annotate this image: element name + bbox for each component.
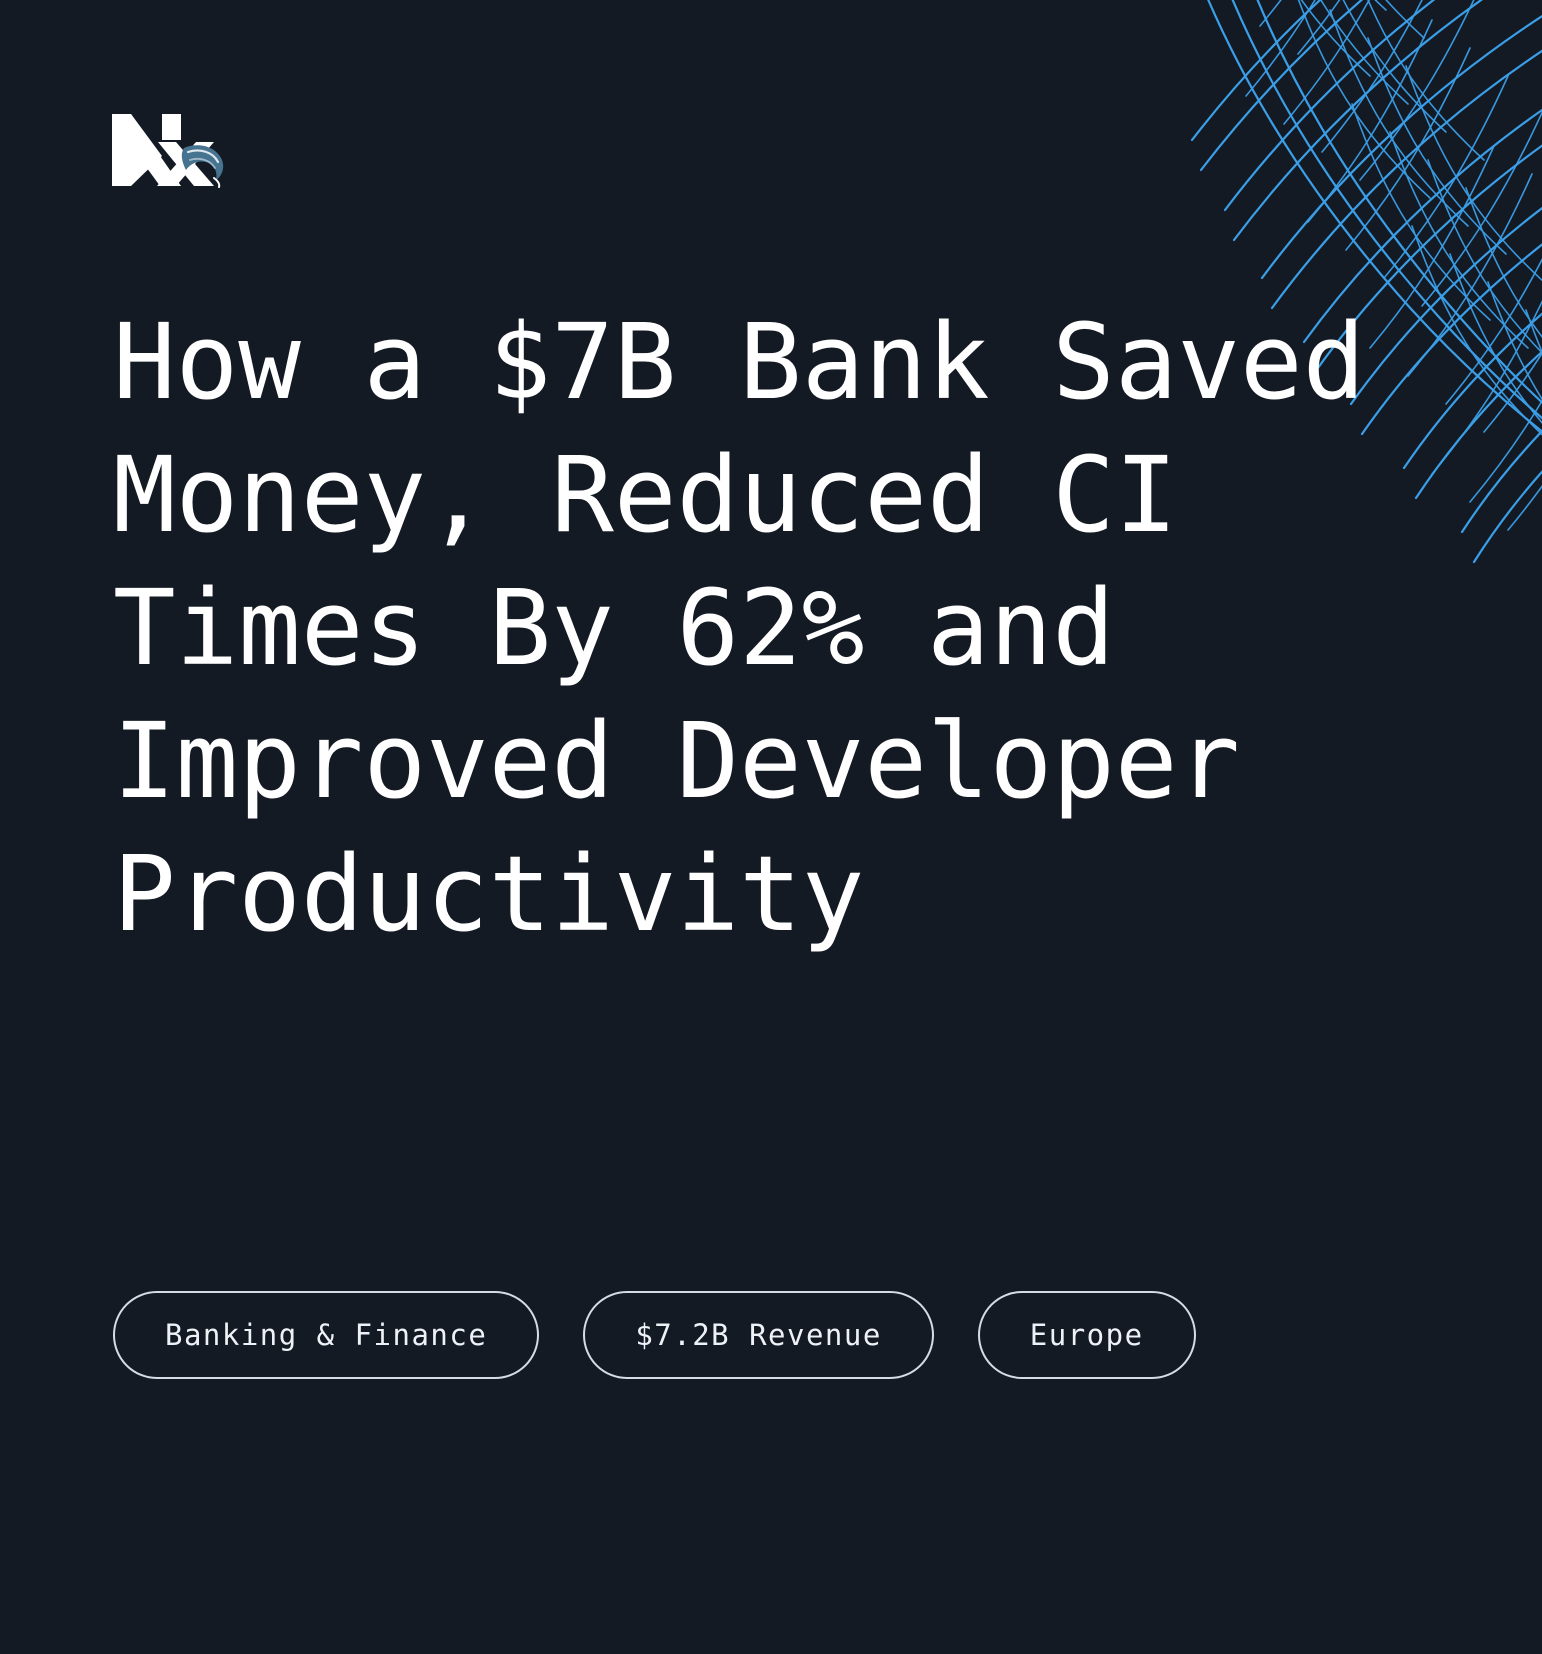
nx-logo[interactable]: [110, 112, 232, 188]
pill-industry[interactable]: Banking & Finance: [113, 1291, 539, 1379]
pill-region[interactable]: Europe: [978, 1291, 1196, 1379]
tag-list: Banking & Finance $7.2B Revenue Europe: [113, 1291, 1196, 1379]
case-study-card: How a $7B Bank Saved Money, Reduced CI T…: [0, 0, 1542, 1654]
page-title: How a $7B Bank Saved Money, Reduced CI T…: [113, 296, 1443, 962]
pill-revenue[interactable]: $7.2B Revenue: [583, 1291, 933, 1379]
